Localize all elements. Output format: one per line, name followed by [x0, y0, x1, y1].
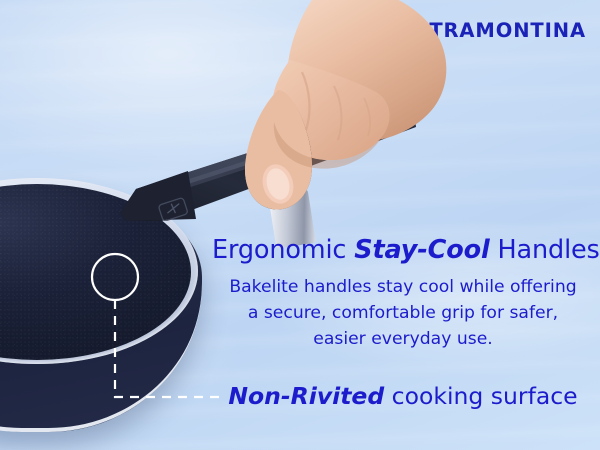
- subheadline-emphasis: Non-Rivited: [228, 382, 384, 410]
- brand-wordmark: TRAMONTINA: [429, 21, 586, 41]
- finger-crease-1: [302, 72, 309, 130]
- body-copy: Bakelite handles stay cool while offerin…: [212, 274, 594, 352]
- headline-suffix: Handles: [490, 235, 600, 265]
- product-feature-banner: TRAMONTINA Ergonomic Stay-Cool Handles B…: [0, 0, 600, 450]
- subheadline: Non-Rivited cooking surface: [212, 383, 594, 410]
- headline-emphasis: Stay-Cool: [354, 235, 489, 265]
- tramontina-t-icon: [396, 17, 422, 44]
- body-line-1: Bakelite handles stay cool while offerin…: [212, 274, 594, 300]
- hand-shadow: [274, 122, 384, 169]
- headline-prefix: Ergonomic: [212, 235, 354, 265]
- subheadline-suffix: cooking surface: [384, 382, 577, 410]
- fingers-group: [272, 60, 390, 160]
- body-line-2: a secure, comfortable grip for safer,: [212, 300, 594, 326]
- body-line-3: easier everyday use.: [212, 326, 594, 352]
- finger-crease-2: [334, 86, 341, 140]
- feature-copy-block: Ergonomic Stay-Cool Handles Bakelite han…: [212, 236, 594, 352]
- brand-logo: TRAMONTINA: [396, 17, 586, 44]
- headline: Ergonomic Stay-Cool Handles: [212, 236, 594, 265]
- frying-pan: [0, 182, 212, 450]
- finger-crease-3: [364, 98, 370, 136]
